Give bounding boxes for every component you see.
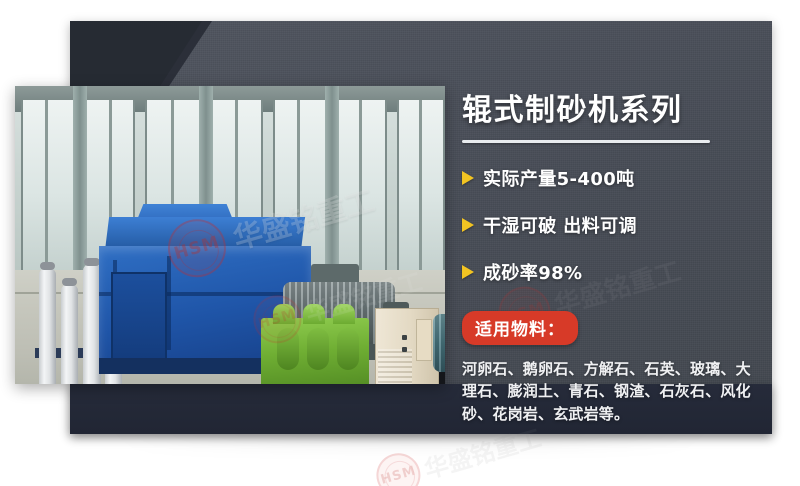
- window-6: [337, 100, 387, 275]
- window-mullion-6: [359, 100, 362, 275]
- teal-motor: [433, 314, 445, 372]
- cabinet-door-panel: [416, 319, 432, 361]
- hydraulic-cylinder-2: [61, 284, 78, 384]
- feature-label: 成砂率98%: [483, 259, 582, 285]
- window-1: [21, 100, 75, 275]
- page-title: 辊式制砂机系列: [462, 95, 762, 127]
- gearbox-cover-1: [277, 328, 299, 370]
- feature-label: 实际产量5-400吨: [483, 165, 635, 191]
- feature-item-3: 成砂率98%: [462, 259, 762, 285]
- triangle-right-icon: [462, 171, 474, 185]
- feature-label: 干湿可破 出料可调: [483, 212, 637, 238]
- crusher-rib-2: [167, 256, 171, 350]
- triangle-right-icon: [462, 265, 474, 279]
- steel-column-3: [325, 86, 339, 281]
- control-cabinet: [375, 308, 439, 384]
- materials-list: 河卵石、鹅卵石、方解石、石英、玻璃、大理石、膨润土、青石、钢渣、石灰石、风化砂、…: [462, 358, 754, 426]
- cylinder-cap-2: [62, 278, 77, 286]
- gearbox-hump-3: [333, 304, 355, 324]
- cylinder-cap-1: [40, 262, 55, 270]
- gearbox-hump-2: [303, 304, 325, 324]
- product-photo: HSM 华盛铭重工 HSM 华盛铭重工 HSM 华盛铭重工: [15, 86, 445, 384]
- crusher-inspection-door: [111, 272, 167, 362]
- feature-list: 实际产量5-400吨 干湿可破 出料可调 成砂率98%: [462, 165, 762, 285]
- steel-column-1: [73, 86, 87, 281]
- teal-motor-fins: [433, 314, 445, 372]
- window-mullion-1: [45, 100, 48, 275]
- feature-item-1: 实际产量5-400吨: [462, 165, 762, 191]
- cabinet-indicator-2: [402, 347, 407, 352]
- gearbox-hump-1: [273, 304, 295, 324]
- gearbox-cover-2: [307, 328, 329, 370]
- gearbox-cover-3: [337, 328, 359, 370]
- feature-item-2: 干湿可破 出料可调: [462, 212, 762, 238]
- promo-banner: HSM 华盛铭重工 HSM 华盛铭重工 HSM 华盛铭重工 HSM 华盛铭重工 …: [0, 0, 800, 486]
- title-underline: [462, 140, 710, 143]
- hydraulic-cylinder-1: [39, 268, 56, 384]
- hsm-badge-icon: HSM: [371, 448, 425, 486]
- window-mullion-7: [419, 100, 422, 275]
- cylinder-cap-3: [84, 258, 100, 266]
- triangle-right-icon: [462, 218, 474, 232]
- cabinet-indicator-1: [402, 335, 407, 340]
- materials-badge: 适用物料：: [462, 311, 578, 345]
- panel-content: 辊式制砂机系列 实际产量5-400吨 干湿可破 出料可调 成砂率98% 适用物料…: [462, 95, 762, 426]
